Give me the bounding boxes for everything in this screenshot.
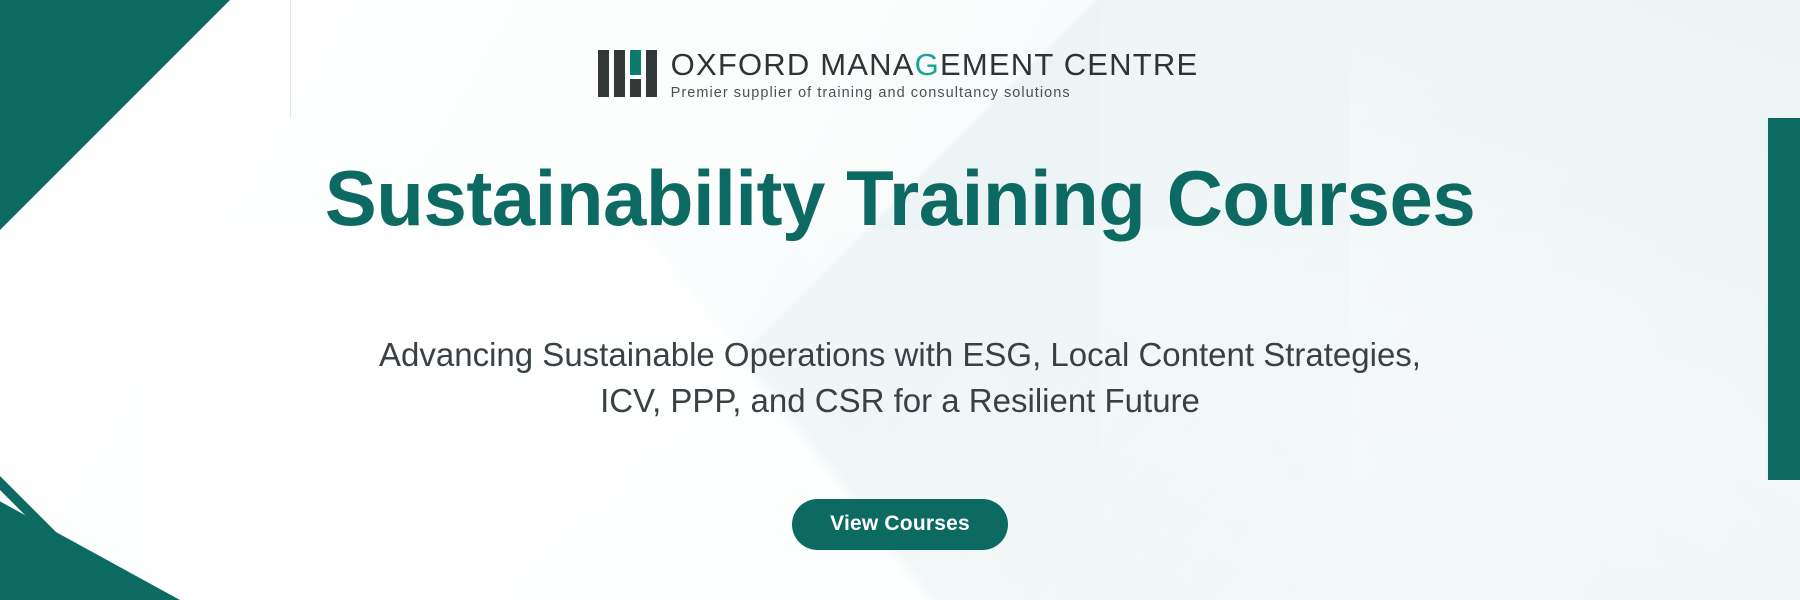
cta-container: View Courses xyxy=(792,499,1008,550)
page-title: Sustainability Training Courses xyxy=(325,156,1475,240)
logo-title-accent-letter: G xyxy=(915,47,940,82)
logo-title: OXFORD MANAGEMENT CENTRE xyxy=(671,48,1199,82)
logo-title-part-2: EMENT CENTRE xyxy=(940,47,1198,82)
hero-banner: OXFORD MANAGEMENT CENTRE Premier supplie… xyxy=(0,0,1800,600)
view-courses-button[interactable]: View Courses xyxy=(792,499,1008,550)
logo-bar-2 xyxy=(614,50,625,97)
brand-logo[interactable]: OXFORD MANAGEMENT CENTRE Premier supplie… xyxy=(598,48,1199,102)
page-subtitle-line-1: Advancing Sustainable Operations with ES… xyxy=(379,332,1421,378)
logo-bar-3-split xyxy=(630,50,641,97)
logo-title-part-1: OXFORD MANA xyxy=(671,47,915,82)
banner-content: OXFORD MANAGEMENT CENTRE Premier supplie… xyxy=(0,0,1800,600)
logo-bar-3-bottom-segment xyxy=(630,79,641,97)
logo-bar-1 xyxy=(598,50,609,97)
logo-bar-4 xyxy=(646,50,657,97)
logo-text-block: OXFORD MANAGEMENT CENTRE Premier supplie… xyxy=(671,48,1199,102)
page-subtitle-line-2: ICV, PPP, and CSR for a Resilient Future xyxy=(379,378,1421,424)
logo-mark-icon xyxy=(598,50,657,97)
logo-tagline: Premier supplier of training and consult… xyxy=(671,84,1199,102)
page-subtitle: Advancing Sustainable Operations with ES… xyxy=(379,332,1421,424)
logo-bar-3-top-segment xyxy=(630,50,641,75)
